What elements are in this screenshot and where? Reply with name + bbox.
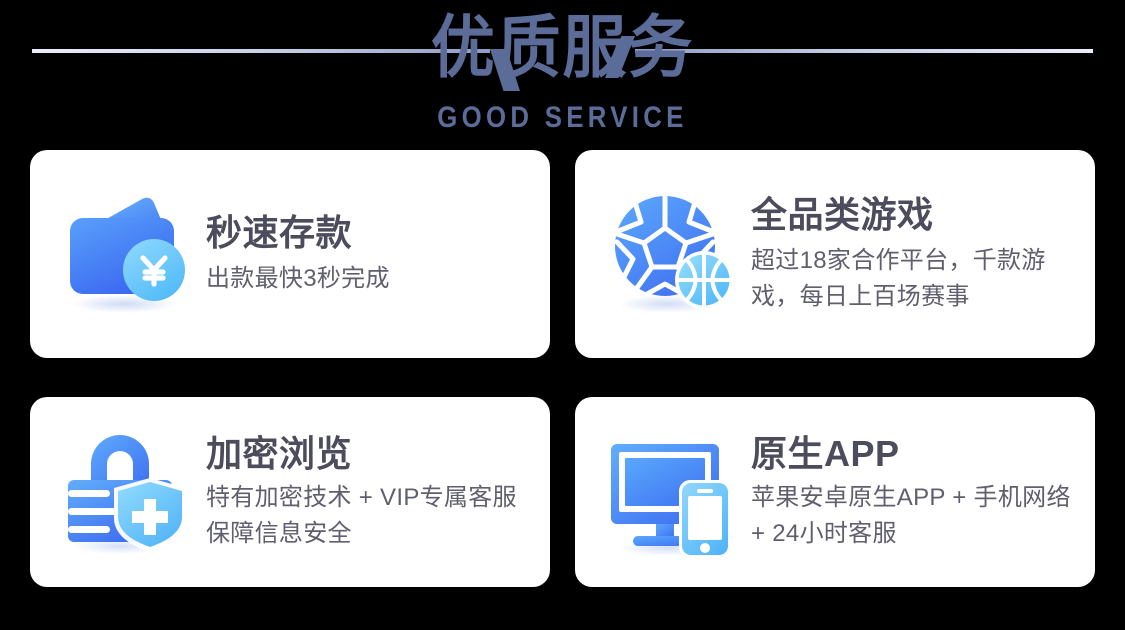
feature-card-grid: 秒速存款 出款最快3秒完成 <box>30 150 1095 587</box>
feature-card-text: 全品类游戏 超过18家合作平台，千款游戏，每日上百场赛事 <box>751 193 1073 315</box>
feature-card-text: 加密浏览 特有加密技术 + VIP专属客服保障信息安全 <box>206 432 528 552</box>
feature-card-text: 秒速存款 出款最快3秒完成 <box>206 211 528 297</box>
feature-card-subtitle: 特有加密技术 + VIP专属客服保障信息安全 <box>206 480 528 552</box>
feature-card-text: 原生APP 苹果安卓原生APP + 手机网络 + 24小时客服 <box>751 432 1073 552</box>
feature-card-title: 加密浏览 <box>206 432 528 476</box>
feature-card-native-app[interactable]: 原生APP 苹果安卓原生APP + 手机网络 + 24小时客服 <box>575 397 1095 587</box>
service-feature-banner: 优质服务 GOOD SERVICE <box>0 0 1125 630</box>
feature-card-subtitle: 超过18家合作平台，千款游戏，每日上百场赛事 <box>751 243 1073 315</box>
feature-card-subtitle: 出款最快3秒完成 <box>206 261 528 297</box>
wallet-yen-icon <box>58 184 198 324</box>
feature-card-title: 全品类游戏 <box>751 193 1073 237</box>
feature-card-title: 原生APP <box>751 432 1073 476</box>
banner-header: 优质服务 GOOD SERVICE <box>0 0 1125 146</box>
feature-card-deposit[interactable]: 秒速存款 出款最快3秒完成 <box>30 150 550 358</box>
feature-card-encryption[interactable]: 加密浏览 特有加密技术 + VIP专属客服保障信息安全 <box>30 397 550 587</box>
soccer-basketball-icon <box>603 184 743 324</box>
feature-card-games[interactable]: 全品类游戏 超过18家合作平台，千款游戏，每日上百场赛事 <box>575 150 1095 358</box>
feature-card-title: 秒速存款 <box>206 211 528 255</box>
page-subtitle: GOOD SERVICE <box>79 100 1047 136</box>
page-title: 优质服务 <box>34 8 1092 90</box>
feature-card-subtitle: 苹果安卓原生APP + 手机网络 + 24小时客服 <box>751 480 1073 552</box>
lock-shield-icon <box>58 422 198 562</box>
monitor-phone-icon <box>603 422 743 562</box>
